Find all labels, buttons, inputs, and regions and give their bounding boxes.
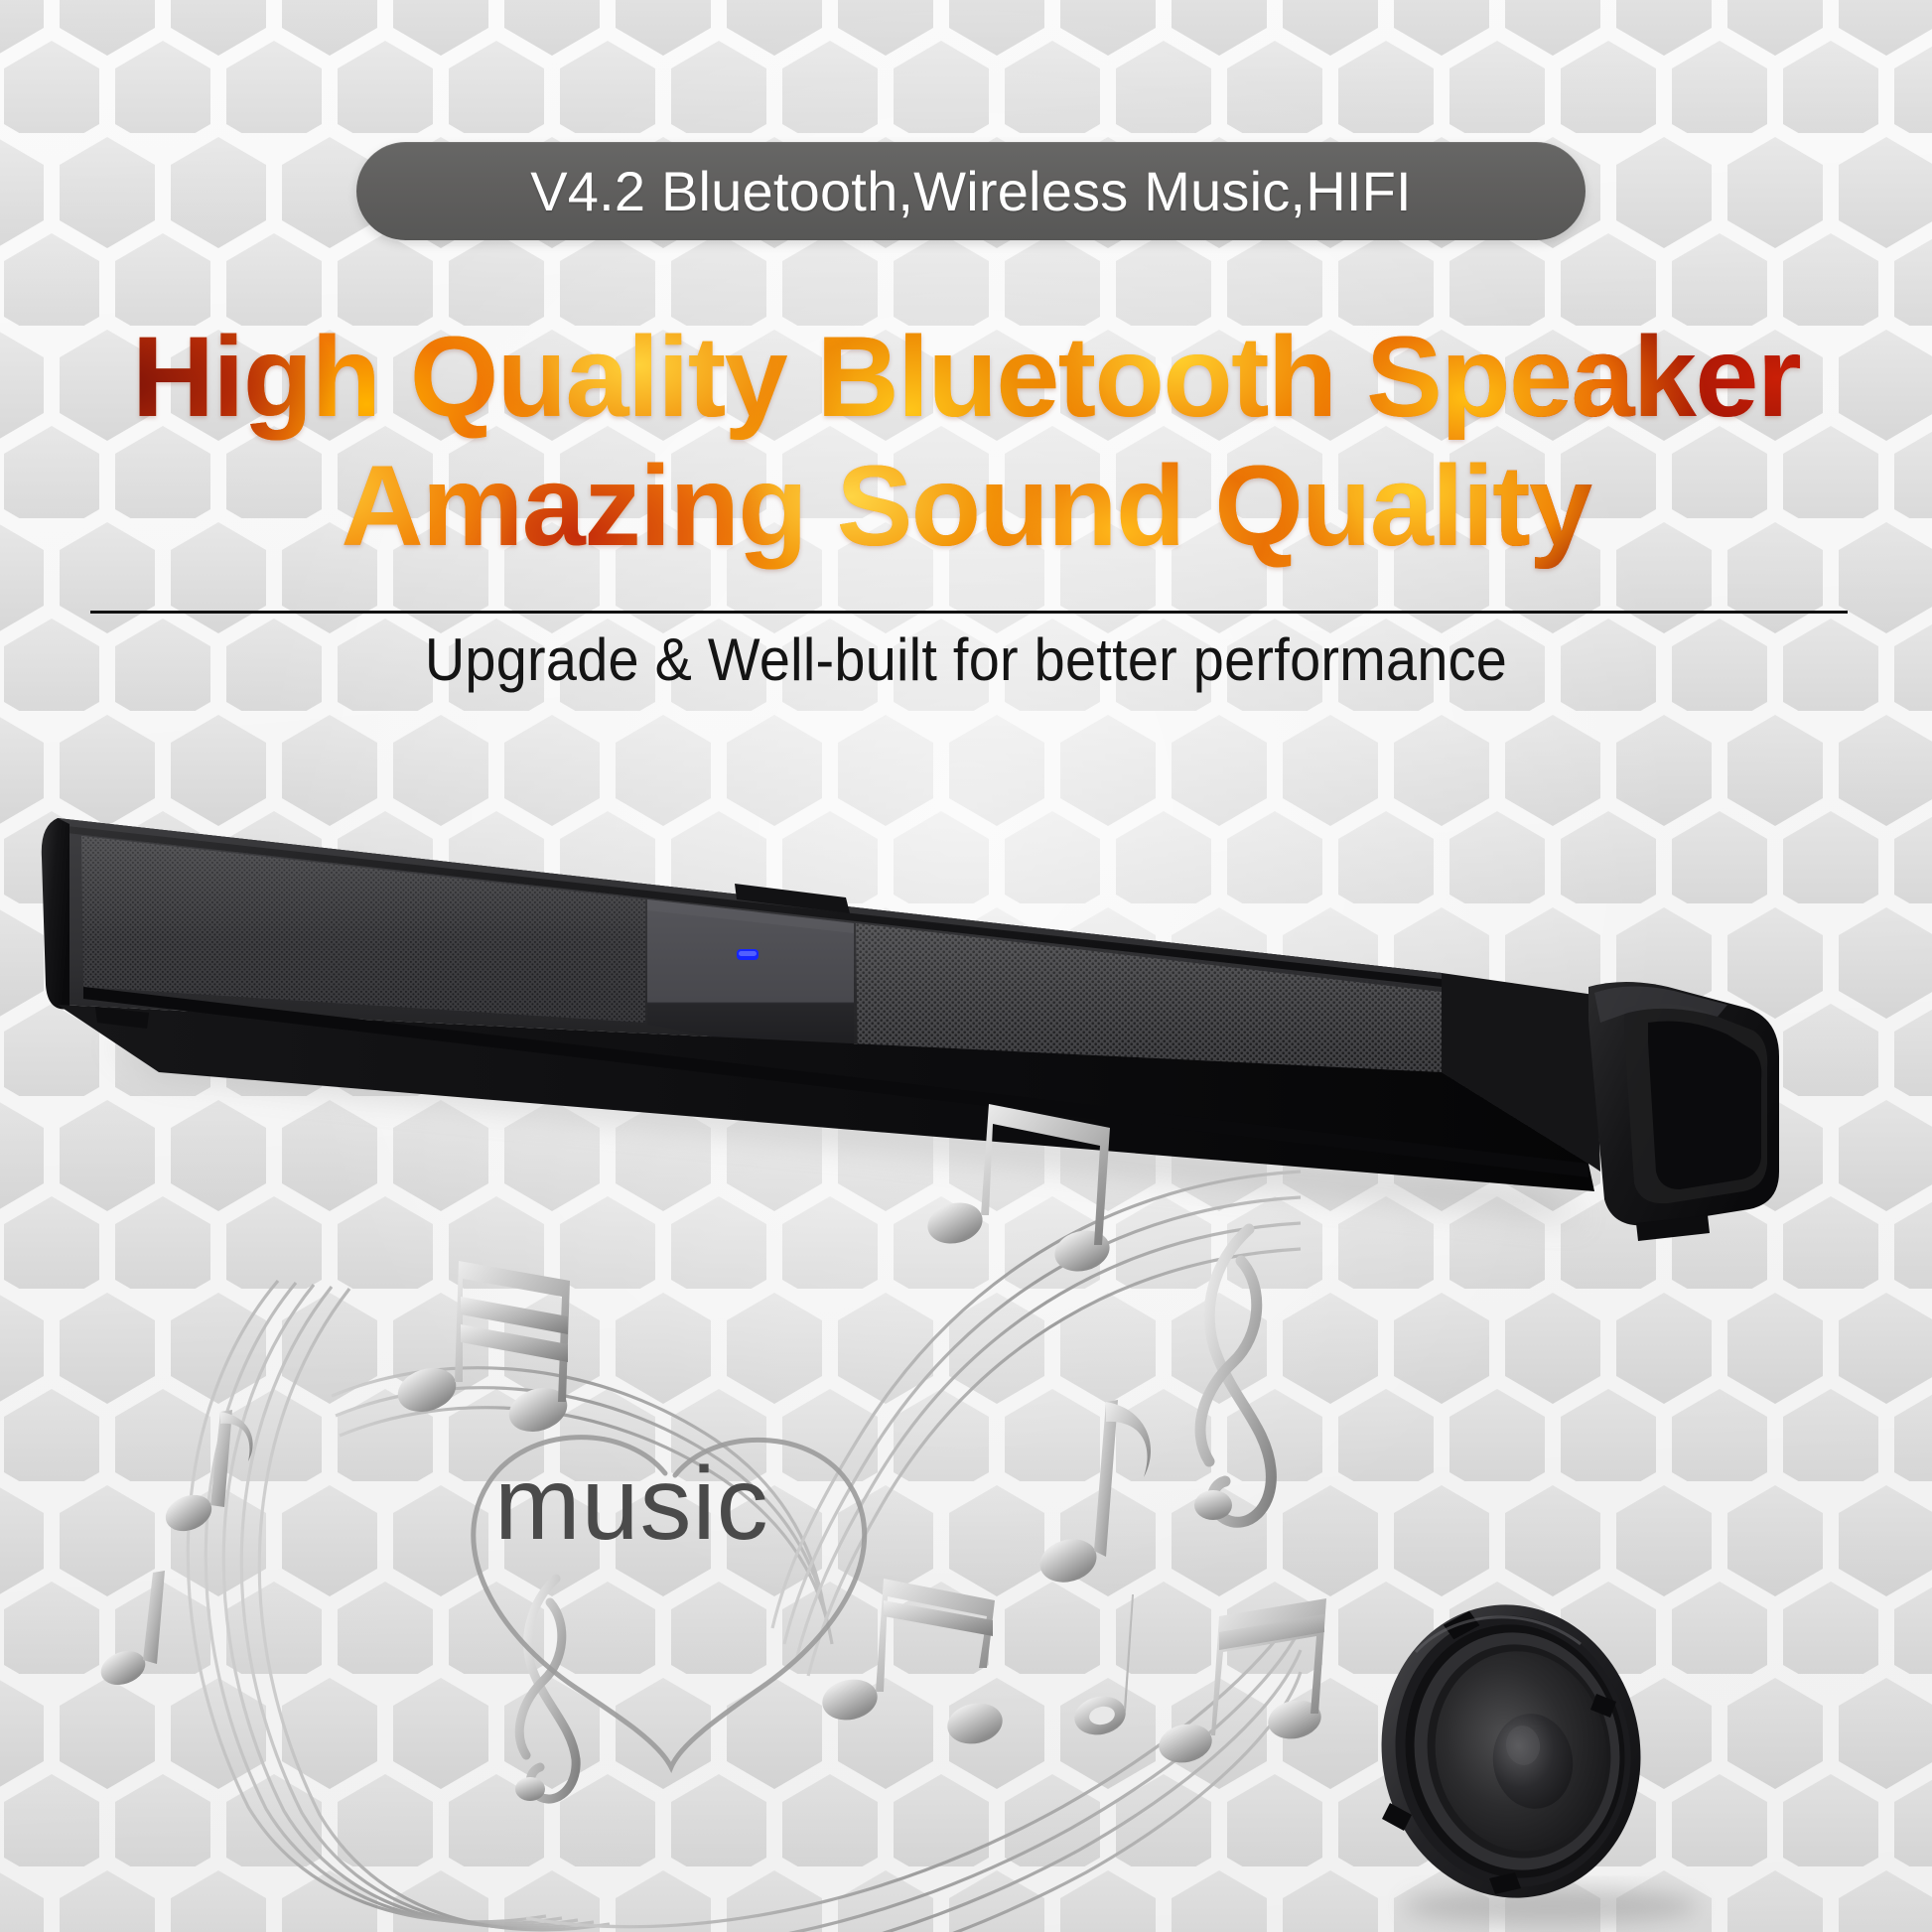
feature-banner-label: V4.2 Bluetooth,Wireless Music,HIFI (530, 159, 1412, 223)
subtitle-text: Upgrade & Well-built for better performa… (68, 625, 1864, 694)
speaker-driver-image (1356, 1575, 1793, 1932)
feature-banner: V4.2 Bluetooth,Wireless Music,HIFI (356, 142, 1586, 240)
headline-divider (90, 611, 1848, 614)
music-label: music (494, 1452, 769, 1556)
product-marketing-page: V4.2 Bluetooth,Wireless Music,HIFI High … (0, 0, 1932, 1932)
headline-block: High Quality Bluetooth Speaker Amazing S… (0, 314, 1932, 572)
headline-line-2: Amazing Sound Quality (0, 443, 1932, 572)
headline-line-1: High Quality Bluetooth Speaker (0, 314, 1932, 443)
